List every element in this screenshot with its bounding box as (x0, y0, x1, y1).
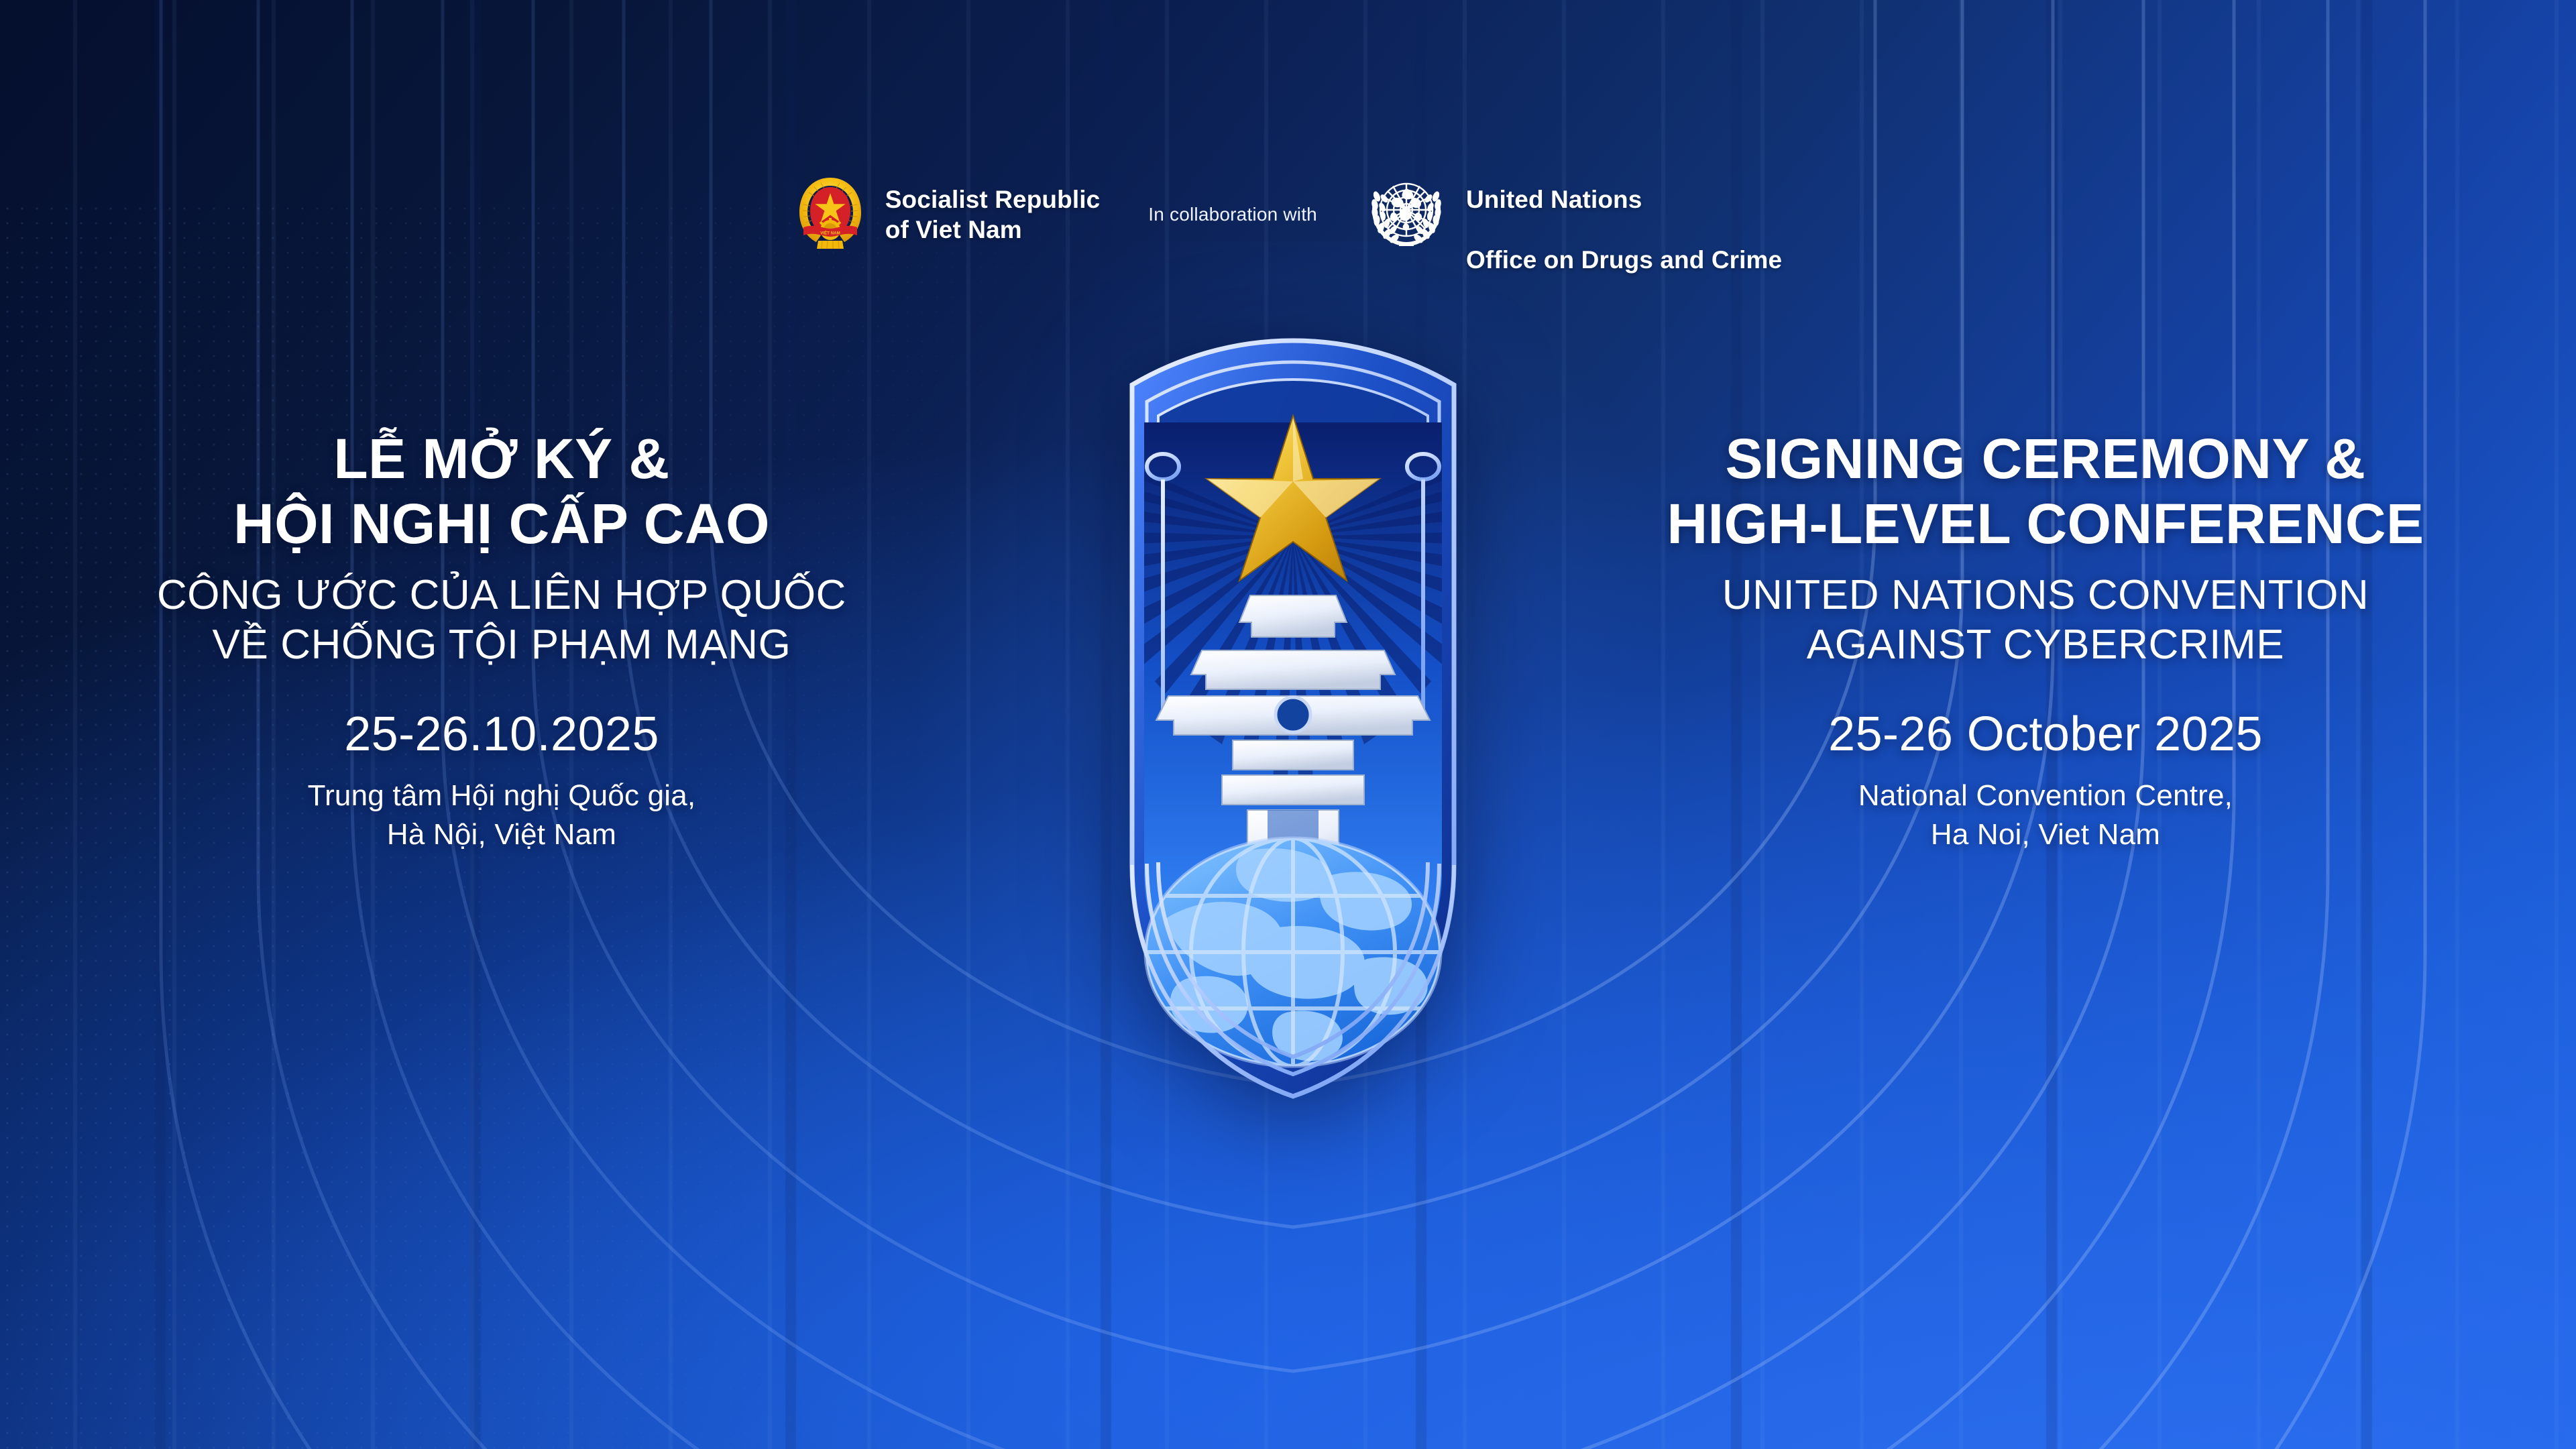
vietnamese-content-column: LỄ MỞ KÝ & HỘI NGHỊ CẤP CAO CÔNG ƯỚC CỦA… (99, 426, 904, 854)
collaboration-label: In collaboration with (1148, 204, 1317, 225)
un-org-name: United Nations Office on Drugs and Crime (1466, 154, 1782, 276)
vietnamese-title: LỄ MỞ KÝ & HỘI NGHỊ CẤP CAO (99, 426, 904, 557)
vietnamese-date: 25-26.10.2025 (99, 707, 904, 762)
vietnamese-subtitle: CÔNG ƯỚC CỦA LIÊN HỢP QUỐC VỀ CHỐNG TỘI … (99, 571, 904, 671)
english-title: SIGNING CEREMONY & HIGH-LEVEL CONFERENCE (1643, 426, 2448, 557)
background-dot-matrix (0, 201, 1140, 1449)
vietnam-org-block: VIỆT NAM Socialist Republic of Viet Nam (794, 174, 1101, 256)
vietnam-national-emblem-icon: VIỆT NAM (794, 174, 866, 256)
partner-header: VIỆT NAM Socialist Republic of Viet Nam … (0, 154, 2576, 276)
english-content-column: SIGNING CEREMONY & HIGH-LEVEL CONFERENCE… (1643, 426, 2448, 854)
conference-shield-emblem (1031, 335, 1555, 1113)
svg-text:VIỆT NAM: VIỆT NAM (820, 230, 840, 235)
vietnam-org-name: Socialist Republic of Viet Nam (885, 184, 1101, 245)
english-venue: National Convention Centre, Ha Noi, Viet… (1643, 776, 2448, 854)
event-banner: VIỆT NAM Socialist Republic of Viet Nam … (0, 0, 2576, 1449)
english-date: 25-26 October 2025 (1643, 707, 2448, 762)
un-org-name-line2: Office on Drugs and Crime (1466, 246, 1782, 274)
united-nations-emblem-icon (1365, 174, 1447, 256)
un-org-name-line1: United Nations (1466, 186, 1642, 213)
un-org-block: United Nations Office on Drugs and Crime (1365, 154, 1782, 276)
english-subtitle: UNITED NATIONS CONVENTION AGAINST CYBERC… (1643, 571, 2448, 671)
globe-icon (1145, 838, 1441, 1066)
vietnamese-venue: Trung tâm Hội nghị Quốc gia, Hà Nội, Việ… (99, 776, 904, 854)
